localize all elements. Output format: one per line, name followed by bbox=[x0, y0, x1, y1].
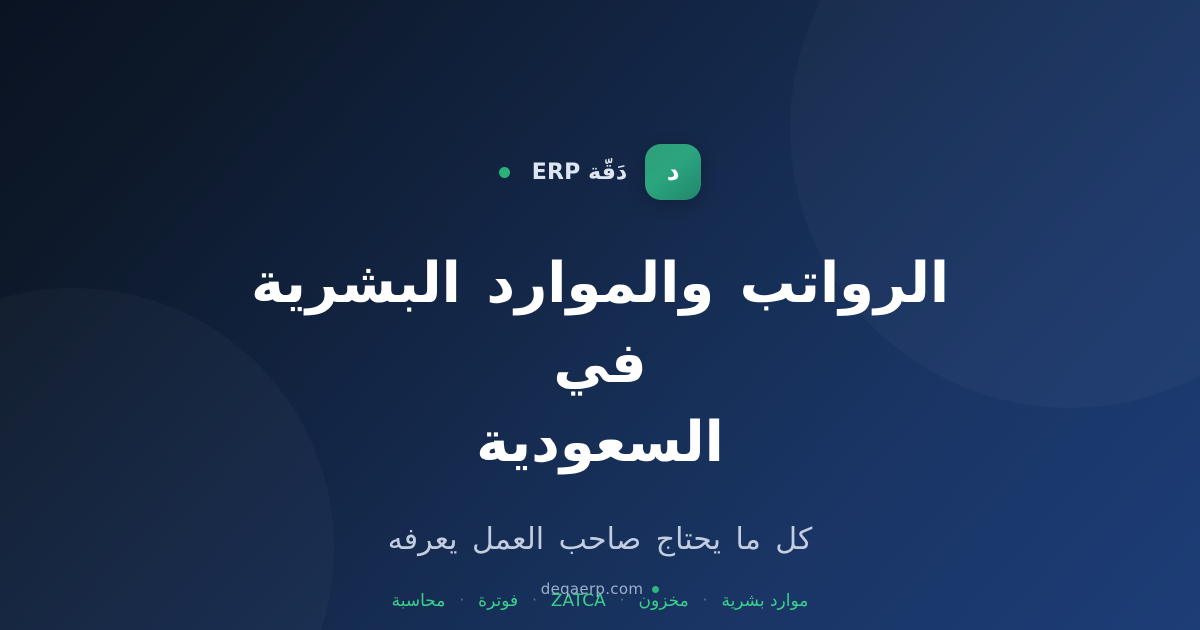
footer-dot-icon bbox=[652, 586, 659, 593]
card-content: د دَقّة ERP الرواتب والموارد البشرية في … bbox=[0, 0, 1200, 630]
brand-row: د دَقّة ERP bbox=[499, 144, 701, 200]
app-logo: د bbox=[645, 144, 701, 200]
share-card: د دَقّة ERP الرواتب والموارد البشرية في … bbox=[0, 0, 1200, 630]
status-dot-icon bbox=[499, 167, 510, 178]
page-title: الرواتب والموارد البشرية في السعودية bbox=[220, 244, 980, 483]
logo-letter-glyph: د bbox=[667, 159, 680, 184]
brand-name: دَقّة ERP bbox=[532, 160, 627, 185]
footer: deqaerp.com bbox=[0, 580, 1200, 598]
headline-line-1: الرواتب والموارد البشرية في bbox=[251, 251, 949, 396]
page-subtitle: كل ما يحتاج صاحب العمل يعرفه bbox=[388, 519, 813, 561]
headline-line-2: السعودية bbox=[476, 410, 724, 475]
footer-website-url: deqaerp.com bbox=[541, 580, 644, 598]
